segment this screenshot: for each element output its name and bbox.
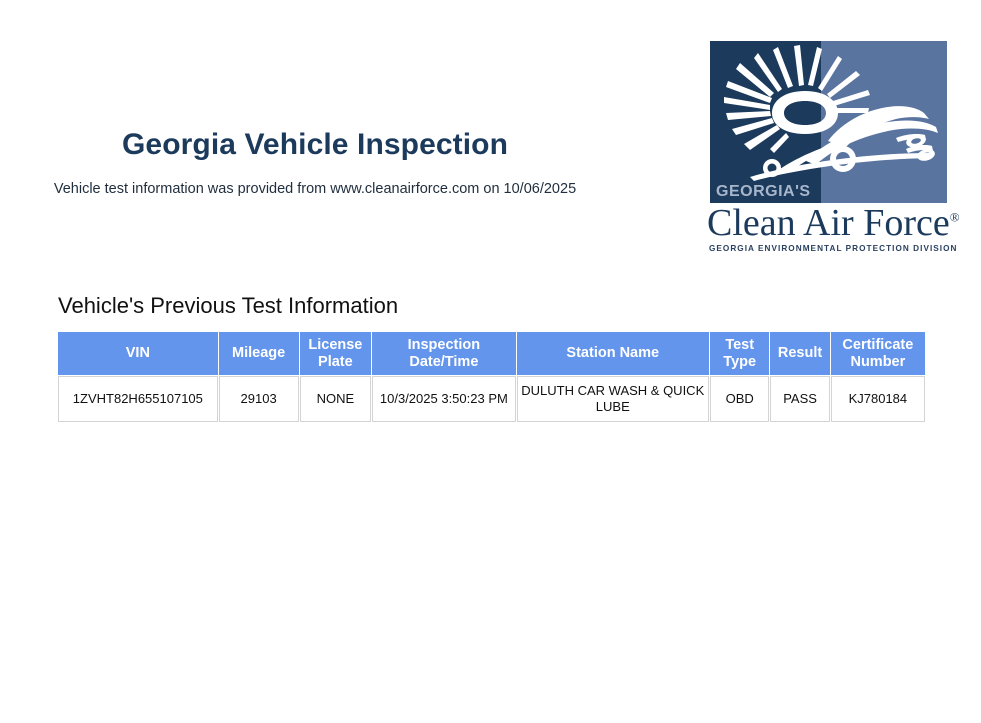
column-header-license-plate: License Plate — [300, 332, 372, 375]
logo-georgias-panel-right — [821, 181, 947, 203]
page-header: Georgia Vehicle Inspection Vehicle test … — [0, 0, 981, 270]
logo-wordmark: Clean Air Force® — [707, 204, 953, 244]
previous-test-table-wrapper: VIN Mileage License Plate Inspection Dat… — [57, 331, 926, 423]
logo-tagline: GEORGIA ENVIRONMENTAL PROTECTION DIVISIO… — [709, 244, 953, 253]
cell-vin: 1ZVHT82H655107105 — [58, 376, 218, 421]
logo-graphic — [710, 41, 947, 181]
column-header-result: Result — [770, 332, 829, 375]
page-subtitle: Vehicle test information was provided fr… — [0, 163, 630, 198]
sun-burst-and-car-icon — [710, 41, 947, 181]
cell-test-type: OBD — [710, 376, 769, 421]
column-header-vin: VIN — [58, 332, 218, 375]
registered-trademark-icon: ® — [950, 209, 960, 224]
previous-test-table: VIN Mileage License Plate Inspection Dat… — [57, 331, 926, 423]
logo-georgias-band: GEORGIA'S — [710, 181, 947, 203]
table-header-row: VIN Mileage License Plate Inspection Dat… — [58, 332, 925, 375]
cell-result: PASS — [770, 376, 829, 421]
table-row: 1ZVHT82H655107105 29103 NONE 10/3/2025 3… — [58, 376, 925, 421]
cell-mileage: 29103 — [219, 376, 299, 421]
column-header-station-name: Station Name — [517, 332, 709, 375]
column-header-mileage: Mileage — [219, 332, 299, 375]
column-header-test-type: Test Type — [710, 332, 769, 375]
column-header-certificate-number: Certificate Number — [831, 332, 925, 375]
cell-station-name: DULUTH CAR WASH & QUICK LUBE — [517, 376, 709, 421]
logo-georgias-text: GEORGIA'S — [716, 183, 811, 201]
section-title: Vehicle's Previous Test Information — [58, 293, 398, 319]
logo-wordmark-text: Clean Air Force — [707, 202, 950, 244]
cell-inspection-datetime: 10/3/2025 3:50:23 PM — [372, 376, 515, 421]
cell-license-plate: NONE — [300, 376, 372, 421]
column-header-inspection-datetime: Inspection Date/Time — [372, 332, 515, 375]
cell-certificate-number: KJ780184 — [831, 376, 925, 421]
title-block: Georgia Vehicle Inspection Vehicle test … — [0, 128, 630, 198]
page-title: Georgia Vehicle Inspection — [0, 128, 630, 163]
clean-air-force-logo: GEORGIA'S Clean Air Force® GEORGIA ENVIR… — [703, 41, 953, 253]
